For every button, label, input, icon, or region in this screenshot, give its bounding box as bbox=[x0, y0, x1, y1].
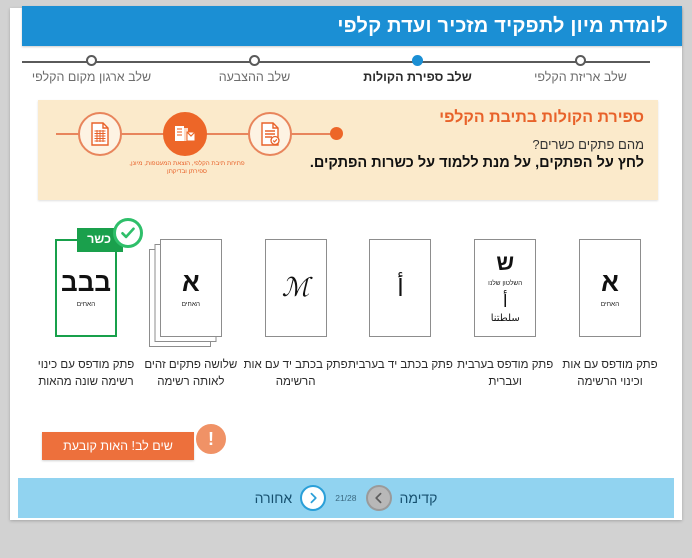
card-caption: שלושה פתקים זהים לאותה רשימה bbox=[135, 357, 247, 390]
check-icon bbox=[113, 218, 143, 248]
card-caption: פתק בכתב יד בערבית bbox=[344, 357, 456, 374]
stepper-item-voting[interactable]: שלב ההצבעה bbox=[173, 52, 336, 98]
step-dot-icon bbox=[249, 55, 260, 66]
stepper-item-counting[interactable]: שלב ספירת הקולות bbox=[336, 52, 499, 98]
app-header: לומדת מיון לתפקיד מזכיר ועדת קלפי bbox=[22, 6, 682, 46]
document-check-icon[interactable] bbox=[248, 112, 292, 156]
next-page-button[interactable] bbox=[300, 485, 326, 511]
page-counter: 21/28 bbox=[334, 493, 357, 503]
card-caption: פתק מודפס בערבית ועברית bbox=[449, 357, 561, 390]
note-graphic[interactable]: א האחים bbox=[579, 239, 641, 337]
note-graphic[interactable]: ש השלטון שלנו أ سلطتنا bbox=[474, 239, 536, 337]
card-printed-arabic-hebrew[interactable]: ש השלטון שלנו أ سلطتنا פתק מודפס בערבית … bbox=[455, 228, 555, 408]
card-three-identical-notes[interactable]: א האחים שלושה פתקים זהים לאותה רשימה bbox=[141, 228, 241, 408]
info-panel-instruction: לחץ על הפתקים, על מנת ללמוד על כשרות הפת… bbox=[310, 155, 644, 171]
nav-forward-label[interactable]: קדימה bbox=[400, 490, 438, 506]
info-panel: ספירת הקולות בתיבת הקלפי מהם פתקים כשרים… bbox=[38, 100, 658, 200]
stepper-item-label: שלב ספירת הקולות bbox=[363, 70, 472, 86]
note-sublabel: האחים bbox=[182, 301, 200, 308]
note-graphic[interactable]: أ bbox=[369, 239, 431, 337]
card-caption: פתק בכתב יד עם אות הרשימה bbox=[240, 357, 352, 390]
note-letter: א bbox=[601, 269, 619, 295]
app-screen: לומדת מיון לתפקיד מזכיר ועדת קלפי שלב אר… bbox=[0, 0, 692, 558]
stage-icon-caption: פתיחת תיבת הקלפי, הוצאת המעטפות, מיונן, … bbox=[128, 160, 246, 177]
note-graphic[interactable]: כשר בבב האחים bbox=[55, 239, 117, 337]
info-panel-question: מהם פתקים כשרים? bbox=[310, 137, 644, 152]
note-sublabel: השלטון שלנו bbox=[488, 280, 522, 287]
stepper-item-label: שלב ההצבעה bbox=[219, 70, 291, 86]
attention-banner: שים לב! האות קובעת ! bbox=[42, 432, 194, 460]
info-text-block: ספירת הקולות בתיבת הקלפי מהם פתקים כשרים… bbox=[310, 109, 644, 171]
note-letter: בבב bbox=[61, 269, 111, 295]
card-handwritten-letter[interactable]: ℳ פתק בכתב יד עם אות הרשימה bbox=[246, 228, 346, 408]
bottom-navigation: קדימה 21/28 אחורה bbox=[18, 478, 674, 518]
nav-back-label[interactable]: אחורה bbox=[255, 490, 293, 506]
notes-gallery: כשר בבב האחים פתק מודפס עם כינוי רשימה ש… bbox=[36, 228, 660, 408]
progress-stepper: שלב ארגון מקום הקלפי שלב ההצבעה שלב ספיר… bbox=[10, 52, 662, 98]
note-handwriting: ℳ bbox=[282, 273, 310, 303]
note-arabic-letter: أ bbox=[503, 294, 508, 311]
note-letter: ש bbox=[496, 252, 514, 274]
step-dot-icon bbox=[412, 55, 423, 66]
card-caption: פתק מודפס עם כינוי רשימה שונה מהאות bbox=[30, 357, 142, 390]
attention-banner-text: שים לב! האות קובעת bbox=[63, 439, 173, 453]
previous-page-button[interactable] bbox=[366, 485, 392, 511]
stepper-item-label: שלב אריזת הקלפי bbox=[534, 70, 627, 86]
card-printed-letter-and-nickname[interactable]: א האחים פתק מודפס עם אות וכינוי הרשימה bbox=[560, 228, 660, 408]
page-title: לומדת מיון לתפקיד מזכיר ועדת קלפי bbox=[337, 15, 682, 38]
stepper-item-packing[interactable]: שלב אריזת הקלפי bbox=[499, 52, 662, 98]
note-sublabel: האחים bbox=[77, 301, 95, 308]
step-dot-icon bbox=[575, 55, 586, 66]
card-caption: פתק מודפס עם אות וכינוי הרשימה bbox=[554, 357, 666, 390]
step-dot-icon bbox=[86, 55, 97, 66]
note-letter: א bbox=[182, 269, 200, 295]
note-graphic[interactable]: ℳ bbox=[265, 239, 327, 337]
track-endpoint-dot bbox=[330, 127, 343, 140]
stepper-item-organize[interactable]: שלב ארגון מקום הקלפי bbox=[10, 52, 173, 98]
stepper-item-label: שלב ארגון מקום הקלפי bbox=[32, 70, 151, 86]
note-sublabel: האחים bbox=[601, 301, 619, 308]
stage-icon-track: פתיחת תיבת הקלפי, הוצאת המעטפות, מיונן, … bbox=[50, 108, 340, 192]
exclamation-icon: ! bbox=[194, 422, 228, 456]
tally-sheet-icon[interactable] bbox=[78, 112, 122, 156]
note-arabic-sublabel: سلطتنا bbox=[491, 313, 520, 324]
note-arabic-letter: أ bbox=[397, 276, 404, 300]
card-printed-different-nickname[interactable]: כשר בבב האחים פתק מודפס עם כינוי רשימה ש… bbox=[36, 228, 136, 408]
info-panel-title: ספירת הקולות בתיבת הקלפי bbox=[310, 109, 644, 127]
card-handwritten-arabic[interactable]: أ פתק בכתב יד בערבית bbox=[350, 228, 450, 408]
ballot-box-icon[interactable] bbox=[163, 112, 207, 156]
note-graphic[interactable]: א האחים bbox=[160, 239, 222, 337]
